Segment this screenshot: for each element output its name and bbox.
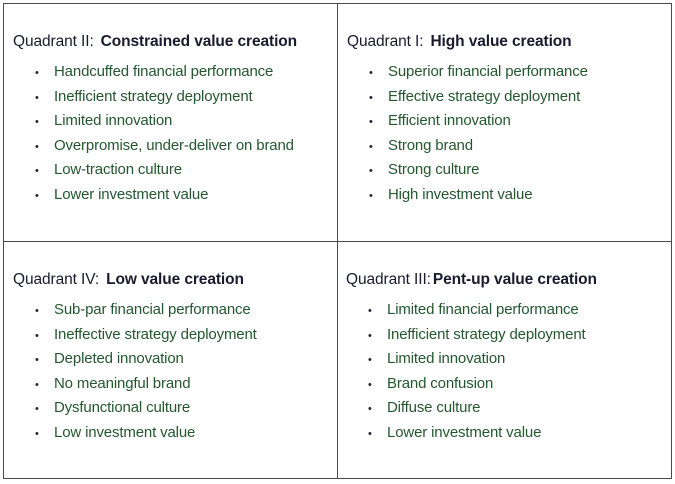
quadrant-label: Quadrant II: <box>13 33 94 50</box>
list-item-label: Limited innovation <box>387 350 505 367</box>
quadrant-top-left: Quadrant II:Constrained value creation •… <box>4 4 338 242</box>
list-item: •Depleted innovation <box>35 350 257 375</box>
list-item: •Strong culture <box>369 161 588 186</box>
quadrant-label: Quadrant I: <box>347 33 423 50</box>
list-item-label: Inefficient strategy deployment <box>387 326 586 343</box>
bullet-icon: • <box>369 142 388 153</box>
bullet-icon: • <box>369 117 388 128</box>
bullet-icon: • <box>368 429 387 440</box>
bullet-icon: • <box>35 404 54 415</box>
list-item-label: Lower investment value <box>387 424 541 441</box>
bullet-icon: • <box>369 93 388 104</box>
list-item: •Limited innovation <box>368 350 586 375</box>
bullet-icon: • <box>35 355 54 366</box>
list-item: •Lower investment value <box>368 424 586 449</box>
bullet-icon: • <box>368 306 387 317</box>
bullet-icon: • <box>35 306 54 317</box>
list-item-label: Superior financial performance <box>388 63 588 80</box>
quadrant-top-right: Quadrant I:High value creation •Superior… <box>338 4 671 242</box>
list-item-label: Strong brand <box>388 137 473 154</box>
quadrant-heading: Quadrant II:Constrained value creation <box>13 33 297 51</box>
list-item: •Low-traction culture <box>35 161 294 186</box>
bullet-icon: • <box>35 331 54 342</box>
list-item-label: Low investment value <box>54 424 195 441</box>
list-item: •Brand confusion <box>368 375 586 400</box>
quadrant-bullet-list: •Superior financial performance •Effecti… <box>369 63 588 211</box>
list-item-label: Limited financial performance <box>387 301 579 318</box>
bullet-icon: • <box>35 68 54 79</box>
bullet-icon: • <box>369 166 388 177</box>
list-item: •Strong brand <box>369 137 588 162</box>
quadrant-label: Quadrant III: <box>346 271 431 288</box>
quadrant-heading: Quadrant I:High value creation <box>347 33 572 51</box>
quadrant-heading: Quadrant IV:Low value creation <box>13 271 244 289</box>
quadrant-title: Constrained value creation <box>101 33 297 50</box>
list-item-label: Ineffective strategy deployment <box>54 326 257 343</box>
bullet-icon: • <box>35 142 54 153</box>
list-item: •Ineffective strategy deployment <box>35 326 257 351</box>
list-item-label: High investment value <box>388 186 532 203</box>
list-item: •Efficient innovation <box>369 112 588 137</box>
quadrant-bullet-list: •Limited financial performance •Ineffici… <box>368 301 586 449</box>
list-item-label: Dysfunctional culture <box>54 399 190 416</box>
quadrant-bullet-list: •Handcuffed financial performance •Ineff… <box>35 63 294 211</box>
list-item: •Limited financial performance <box>368 301 586 326</box>
quadrant-title: Pent-up value creation <box>433 271 597 288</box>
bullet-icon: • <box>369 191 388 202</box>
list-item: •Overpromise, under-deliver on brand <box>35 137 294 162</box>
quadrant-bottom-right: Quadrant III:Pent-up value creation •Lim… <box>338 242 671 478</box>
bullet-icon: • <box>35 380 54 391</box>
bullet-icon: • <box>35 93 54 104</box>
quadrant-title: Low value creation <box>106 271 244 288</box>
list-item: •Handcuffed financial performance <box>35 63 294 88</box>
list-item-label: Effective strategy deployment <box>388 88 580 105</box>
list-item: •Dysfunctional culture <box>35 399 257 424</box>
bullet-icon: • <box>35 429 54 440</box>
list-item-label: Diffuse culture <box>387 399 480 416</box>
list-item: •Superior financial performance <box>369 63 588 88</box>
list-item: •High investment value <box>369 186 588 211</box>
quadrant-title: High value creation <box>430 33 571 50</box>
quadrant-matrix: Quadrant II:Constrained value creation •… <box>3 3 672 479</box>
list-item: •Limited innovation <box>35 112 294 137</box>
list-item: •Effective strategy deployment <box>369 88 588 113</box>
list-item: •Low investment value <box>35 424 257 449</box>
list-item: •Inefficient strategy deployment <box>35 88 294 113</box>
list-item: •Lower investment value <box>35 186 294 211</box>
list-item-label: Depleted innovation <box>54 350 184 367</box>
bullet-icon: • <box>368 380 387 391</box>
list-item-label: Brand confusion <box>387 375 493 392</box>
list-item-label: Lower investment value <box>54 186 208 203</box>
list-item-label: Sub-par financial performance <box>54 301 251 318</box>
bullet-icon: • <box>368 404 387 415</box>
list-item-label: Low-traction culture <box>54 161 182 178</box>
list-item-label: No meaningful brand <box>54 375 190 392</box>
bullet-icon: • <box>35 166 54 177</box>
quadrant-bullet-list: •Sub-par financial performance •Ineffect… <box>35 301 257 449</box>
bullet-icon: • <box>368 355 387 366</box>
quadrant-bottom-left: Quadrant IV:Low value creation •Sub-par … <box>4 242 338 478</box>
list-item-label: Efficient innovation <box>388 112 511 129</box>
quadrant-label: Quadrant IV: <box>13 271 99 288</box>
list-item-label: Strong culture <box>388 161 479 178</box>
bullet-icon: • <box>35 117 54 128</box>
bullet-icon: • <box>35 191 54 202</box>
list-item-label: Limited innovation <box>54 112 172 129</box>
list-item-label: Inefficient strategy deployment <box>54 88 253 105</box>
bullet-icon: • <box>368 331 387 342</box>
list-item: •Diffuse culture <box>368 399 586 424</box>
list-item: •Sub-par financial performance <box>35 301 257 326</box>
list-item-label: Handcuffed financial performance <box>54 63 273 80</box>
quadrant-heading: Quadrant III:Pent-up value creation <box>346 271 597 289</box>
list-item: •Inefficient strategy deployment <box>368 326 586 351</box>
list-item-label: Overpromise, under-deliver on brand <box>54 137 294 154</box>
list-item: •No meaningful brand <box>35 375 257 400</box>
bullet-icon: • <box>369 68 388 79</box>
